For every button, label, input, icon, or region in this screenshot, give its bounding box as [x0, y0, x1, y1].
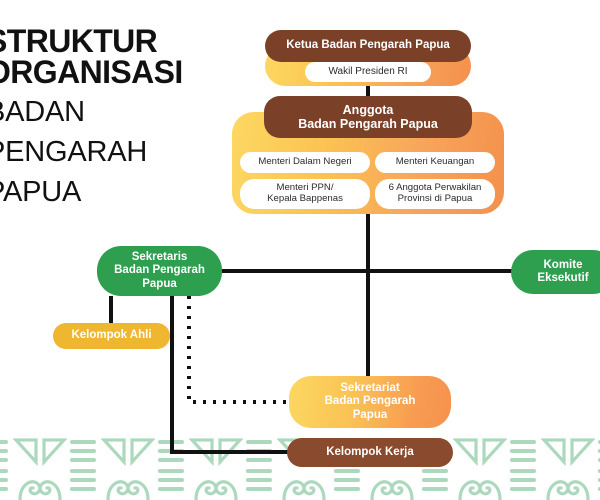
node-kelompok-ahli: Kelompok Ahli	[53, 323, 170, 349]
node-kelompok-ahli-label: Kelompok Ahli	[71, 329, 151, 342]
pill-perwakilan-provinsi-label: 6 Anggota Perwakilan Provinsi di Papua	[389, 183, 482, 205]
node-sekretariat: Sekretariat Badan Pengarah Papua	[289, 376, 451, 428]
card-anggota-header-line2: Badan Pengarah Papua	[298, 117, 438, 132]
organization-chart-canvas: STRUKTUR ORGANISASI BADAN PENGARAH PAPUA…	[0, 0, 600, 500]
node-sekretaris-label: Sekretaris Badan Pengarah Papua	[114, 251, 205, 291]
node-kelompok-kerja-label: Kelompok Kerja	[326, 446, 414, 459]
node-sekretariat-label: Sekretariat Badan Pengarah Papua	[325, 382, 416, 422]
card-ketua-header-label: Ketua Badan Pengarah Papua	[286, 39, 450, 52]
card-ketua-header: Ketua Badan Pengarah Papua	[265, 30, 471, 62]
node-kelompok-kerja: Kelompok Kerja	[287, 438, 453, 467]
pill-menteri-keuangan: Menteri Keuangan	[375, 152, 495, 173]
pill-perwakilan-provinsi: 6 Anggota Perwakilan Provinsi di Papua	[375, 179, 495, 209]
pill-wakil-presiden: Wakil Presiden RI	[305, 62, 431, 82]
pill-menteri-ppn-label: Menteri PPN/ Kepala Bappenas	[267, 183, 343, 205]
pill-menteri-dalam-negeri-label: Menteri Dalam Negeri	[258, 157, 351, 168]
card-anggota-header-line1: Anggota	[343, 103, 394, 118]
pill-wakil-presiden-label: Wakil Presiden RI	[328, 66, 407, 77]
pill-menteri-dalam-negeri: Menteri Dalam Negeri	[240, 152, 370, 173]
pill-menteri-ppn: Menteri PPN/ Kepala Bappenas	[240, 179, 370, 209]
pill-menteri-keuangan-label: Menteri Keuangan	[396, 157, 474, 168]
node-sekretaris: Sekretaris Badan Pengarah Papua	[97, 246, 222, 296]
node-komite-eksekutif: Komite Eksekutif	[511, 250, 600, 294]
card-anggota-header: Anggota Badan Pengarah Papua	[264, 96, 472, 138]
node-komite-eksekutif-label: Komite Eksekutif	[537, 259, 588, 286]
